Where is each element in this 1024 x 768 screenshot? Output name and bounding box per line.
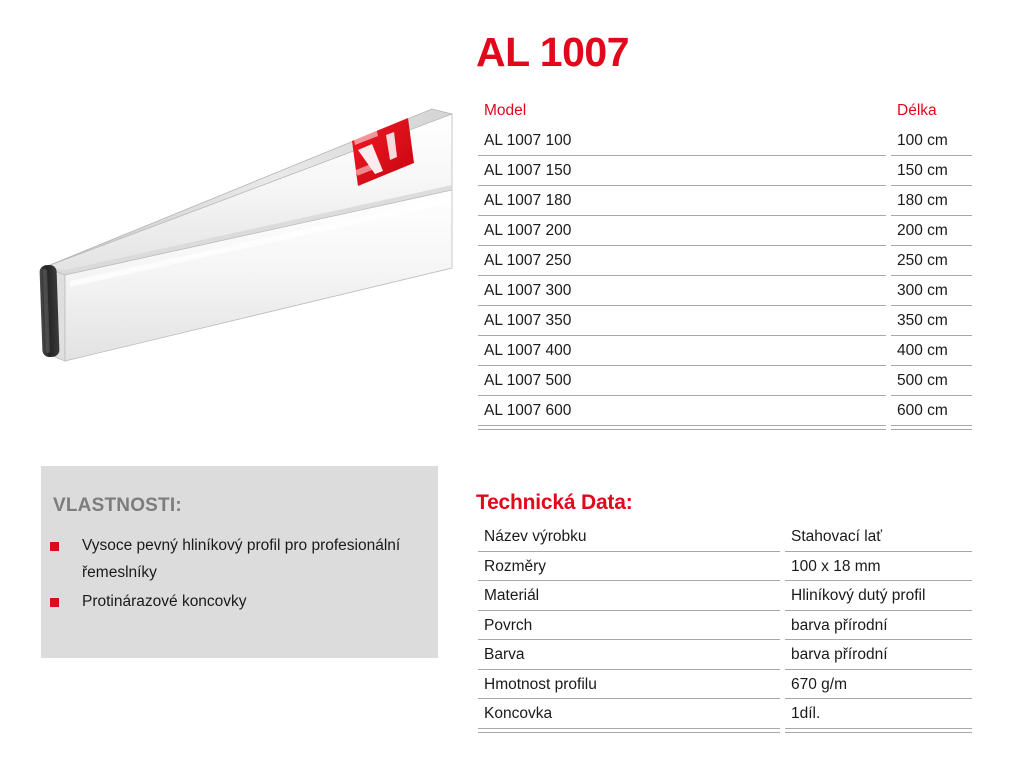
- cell-length: 250 cm: [891, 246, 972, 276]
- screed-rail-illustration: [20, 105, 470, 395]
- cell-property-value: 670 g/m: [785, 670, 972, 700]
- table-row: Materiál Hliníkový dutý profil: [478, 581, 972, 611]
- cell-property-name: Povrch: [478, 611, 780, 641]
- cell-property-value: 1díl.: [785, 699, 972, 729]
- cell-property-name: Materiál: [478, 581, 780, 611]
- cell-model: AL 1007 350: [478, 306, 886, 336]
- tech-data-heading: Technická Data:: [476, 491, 633, 515]
- models-table-header: Model Délka: [478, 100, 972, 126]
- bullet-square-icon: [50, 542, 59, 551]
- cell-property-value: Hliníkový dutý profil: [785, 581, 972, 611]
- table-row: AL 1007 300 300 cm: [478, 276, 972, 306]
- cell-model: AL 1007 500: [478, 366, 886, 396]
- tech-data-table: Název výrobku Stahovací lať Rozměry 100 …: [478, 522, 972, 733]
- table-row: AL 1007 100 100 cm: [478, 126, 972, 156]
- table-row: AL 1007 350 350 cm: [478, 306, 972, 336]
- table-row: AL 1007 200 200 cm: [478, 216, 972, 246]
- list-item: Vysoce pevný hliníkový profil pro profes…: [50, 532, 430, 586]
- table-row: Povrch barva přírodní: [478, 611, 972, 641]
- page-title: AL 1007: [476, 30, 629, 75]
- product-image: [20, 105, 470, 395]
- table-row: AL 1007 500 500 cm: [478, 366, 972, 396]
- cell-length: 300 cm: [891, 276, 972, 306]
- features-heading: VLASTNOSTI:: [53, 495, 182, 517]
- rule-segment-right: [785, 729, 972, 733]
- feature-text: Vysoce pevný hliníkový profil pro profes…: [82, 537, 400, 581]
- cell-property-name: Hmotnost profilu: [478, 670, 780, 700]
- table-row: Název výrobku Stahovací lať: [478, 522, 972, 552]
- models-table-bottom-rule: [478, 426, 972, 430]
- bullet-square-icon: [50, 598, 59, 607]
- tech-table-bottom-rule: [478, 729, 972, 733]
- cell-model: AL 1007 180: [478, 186, 886, 216]
- cell-model: AL 1007 200: [478, 216, 886, 246]
- cell-length: 600 cm: [891, 396, 972, 426]
- table-row: AL 1007 400 400 cm: [478, 336, 972, 366]
- table-row: Barva barva přírodní: [478, 640, 972, 670]
- cell-length: 400 cm: [891, 336, 972, 366]
- cell-property-value: Stahovací lať: [785, 522, 972, 552]
- cell-length: 200 cm: [891, 216, 972, 246]
- rule-segment-right: [891, 426, 972, 430]
- table-row: AL 1007 150 150 cm: [478, 156, 972, 186]
- cell-length: 100 cm: [891, 126, 972, 156]
- end-cap: [39, 265, 59, 358]
- rule-segment-left: [478, 426, 886, 430]
- table-row: Koncovka 1díl.: [478, 699, 972, 729]
- column-header-model: Model: [478, 100, 886, 126]
- cell-length: 350 cm: [891, 306, 972, 336]
- cell-property-name: Název výrobku: [478, 522, 780, 552]
- cell-property-value: barva přírodní: [785, 640, 972, 670]
- cell-property-name: Barva: [478, 640, 780, 670]
- column-header-length: Délka: [891, 100, 972, 126]
- list-item: Protinárazové koncovky: [50, 588, 430, 615]
- models-table: Model Délka AL 1007 100 100 cm AL 1007 1…: [478, 100, 972, 430]
- cell-property-name: Rozměry: [478, 552, 780, 582]
- rule-segment-left: [478, 729, 780, 733]
- product-datasheet-page: AL 1007 Model Délka AL 1007 100 100 cm A…: [0, 0, 1024, 768]
- cell-property-name: Koncovka: [478, 699, 780, 729]
- cell-length: 150 cm: [891, 156, 972, 186]
- cell-model: AL 1007 600: [478, 396, 886, 426]
- table-row: AL 1007 250 250 cm: [478, 246, 972, 276]
- table-row: AL 1007 600 600 cm: [478, 396, 972, 426]
- cell-model: AL 1007 100: [478, 126, 886, 156]
- cell-property-value: 100 x 18 mm: [785, 552, 972, 582]
- cell-model: AL 1007 300: [478, 276, 886, 306]
- features-panel: VLASTNOSTI: Vysoce pevný hliníkový profi…: [41, 466, 438, 658]
- cell-length: 500 cm: [891, 366, 972, 396]
- feature-text: Protinárazové koncovky: [82, 593, 247, 610]
- table-row: Rozměry 100 x 18 mm: [478, 552, 972, 582]
- table-row: AL 1007 180 180 cm: [478, 186, 972, 216]
- table-row: Hmotnost profilu 670 g/m: [478, 670, 972, 700]
- cell-model: AL 1007 250: [478, 246, 886, 276]
- features-list: Vysoce pevný hliníkový profil pro profes…: [50, 532, 430, 617]
- cell-model: AL 1007 150: [478, 156, 886, 186]
- cell-property-value: barva přírodní: [785, 611, 972, 641]
- cell-length: 180 cm: [891, 186, 972, 216]
- cell-model: AL 1007 400: [478, 336, 886, 366]
